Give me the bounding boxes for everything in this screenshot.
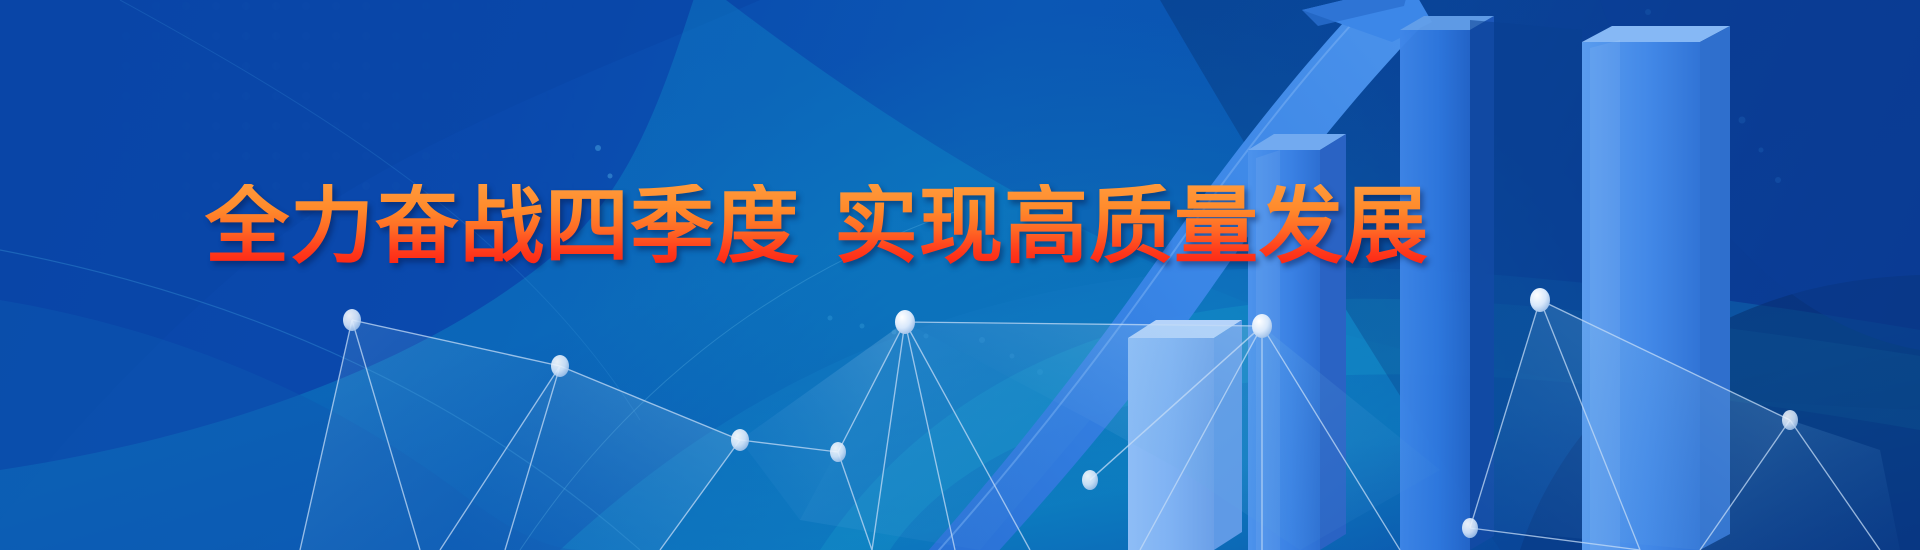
promotional-banner: 全力奋战四季度实现高质量发展	[0, 0, 1920, 550]
headline-text: 全力奋战四季度实现高质量发展	[205, 184, 1429, 268]
banner-headline: 全力奋战四季度实现高质量发展	[205, 176, 1435, 276]
headline-part-1: 全力奋战四季度	[205, 177, 800, 275]
headline-part-2: 实现高质量发展	[834, 177, 1429, 275]
